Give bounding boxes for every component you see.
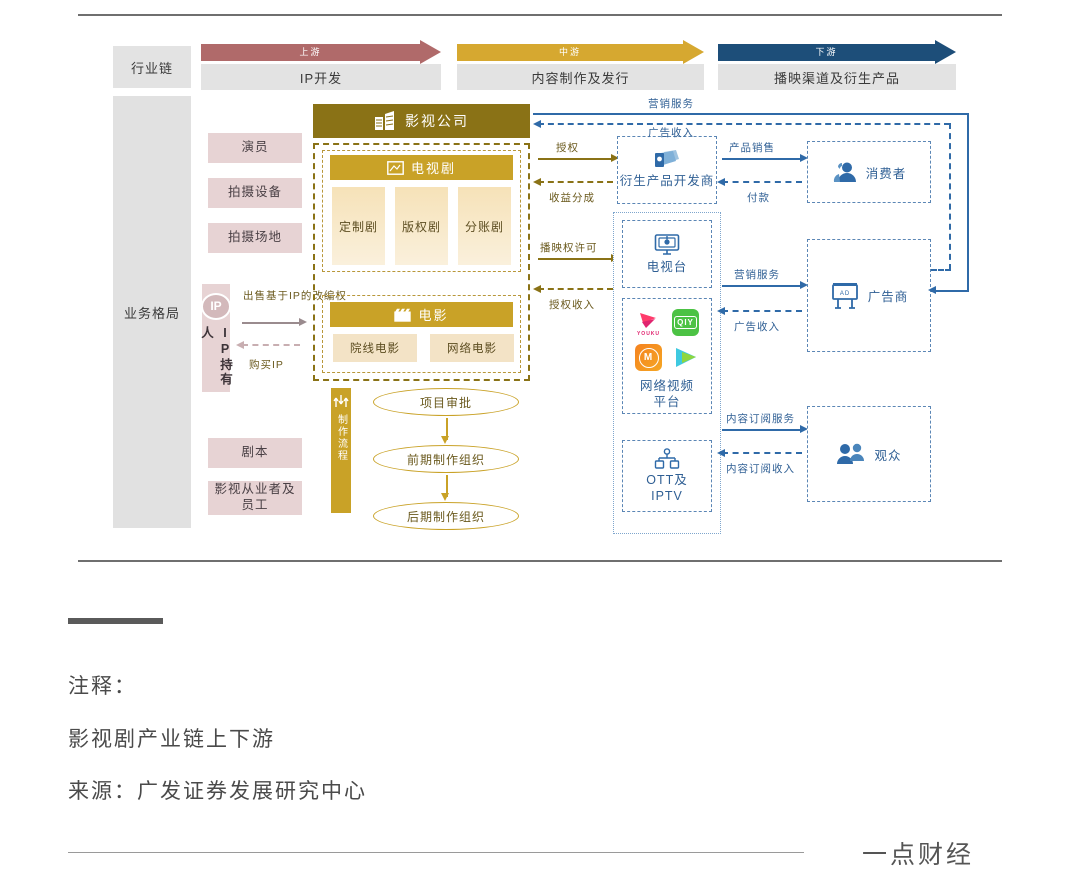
flow-arrowhead-payment xyxy=(717,178,725,186)
advertiser-box: AD 广告商 xyxy=(807,239,931,352)
flow-vline-marketing-top xyxy=(967,113,969,291)
upstream-box-actor: 演员 xyxy=(208,133,302,163)
audience-label: 观众 xyxy=(874,445,901,464)
row-label-chain-text: 行业链 xyxy=(131,58,173,77)
stage-box-upstream: IP开发 xyxy=(201,64,441,90)
upstream-box-equipment: 拍摄设备 xyxy=(208,178,302,208)
stage-arrow-upstream: 上游 xyxy=(201,40,441,64)
stage-box-midstream: 内容制作及发行 xyxy=(457,64,704,90)
process-arrowhead-1 xyxy=(441,436,449,444)
tv-drama-item-copyright: 版权剧 xyxy=(395,187,448,265)
watermark: 一点财经 xyxy=(862,835,974,871)
stage-box-downstream: 播映渠道及衍生产品 xyxy=(718,64,956,90)
tv-drama-item-revshare: 分账剧 xyxy=(458,187,511,265)
production-process-label-text: 制作流程 xyxy=(334,414,349,462)
flow-arrowhead-sell-ip xyxy=(299,318,307,326)
flow-line-payment xyxy=(722,181,802,183)
upstream-box-script-text: 剧本 xyxy=(241,445,268,461)
flow-label-subscription-income: 内容订阅收入 xyxy=(726,461,795,476)
flow-line-ad-income xyxy=(722,310,802,312)
derivative-developer-label: 衍生产品开发商 xyxy=(620,173,715,189)
flow-label-product-sale: 产品销售 xyxy=(729,140,775,155)
row-label-chain: 行业链 xyxy=(113,46,191,88)
flow-arrowhead-ad-income-top xyxy=(533,120,541,128)
production-process-label: 制作流程 xyxy=(331,388,351,513)
flow-label-marketing-top: 营销服务 xyxy=(648,96,694,111)
flow-arrowhead-license-income xyxy=(533,285,541,293)
footer-divider xyxy=(68,852,804,853)
flow-line-subscription-income xyxy=(722,452,802,454)
upstream-box-workers-text: 影视从业者及员工 xyxy=(208,482,302,513)
footer-source: 来源：广发证券发展研究中心 xyxy=(68,775,367,805)
flow-line-buy-ip xyxy=(242,344,300,346)
flow-label-marketing: 营销服务 xyxy=(734,267,780,282)
flow-line-subscription-service xyxy=(722,429,802,431)
row-label-layout: 业务格局 xyxy=(113,96,191,528)
flow-label-license-income: 授权收入 xyxy=(549,297,595,312)
company-header-text: 影视公司 xyxy=(405,111,469,131)
building-icon xyxy=(374,111,396,131)
tv-drama-item-custom: 定制剧 xyxy=(332,187,385,265)
industry-chain-diagram: 行业链 业务格局 上游 IP开发 中游 内容制作及发行 下游 xyxy=(0,0,1080,560)
stage-box-upstream-text: IP开发 xyxy=(300,68,342,87)
tv-drama-header-text: 电视剧 xyxy=(411,158,456,177)
video-platform-label-1: 网络视频 xyxy=(640,378,694,394)
iqiyi-logo-icon: QIY xyxy=(672,309,699,336)
flow-arrowhead-marketing-top xyxy=(928,286,936,294)
process-step-preproduction: 前期制作组织 xyxy=(373,445,519,473)
upstream-box-location-text: 拍摄场地 xyxy=(228,230,282,246)
flow-line-product-sale xyxy=(722,158,802,160)
footer-note-text: 影视剧产业链上下游 xyxy=(68,723,275,753)
svg-text:AD: AD xyxy=(840,291,850,297)
video-platform-label-2: 平台 xyxy=(653,394,680,410)
network-icon xyxy=(654,448,680,470)
ad-board-icon: AD xyxy=(830,282,860,310)
flow-line-ad-income-top xyxy=(538,123,950,125)
flow-arrowhead-revshare xyxy=(533,178,541,186)
flow-arrowhead-buy-ip xyxy=(236,341,244,349)
film-item-online: 网络电影 xyxy=(430,334,514,362)
upstream-box-actor-text: 演员 xyxy=(241,140,268,156)
cards-icon xyxy=(654,150,680,170)
flow-label-license: 授权 xyxy=(556,140,579,155)
process-step-approval: 项目审批 xyxy=(373,388,519,416)
ott-iptv-box: OTT及 IPTV xyxy=(622,440,712,512)
user-icon xyxy=(832,161,858,183)
flow-label-ad-income: 广告收入 xyxy=(734,319,780,334)
flow-line-license xyxy=(538,158,613,160)
upstream-box-location: 拍摄场地 xyxy=(208,223,302,253)
film-clapper-icon xyxy=(394,308,411,322)
flow-line-license-income xyxy=(538,288,613,290)
tv-drama-header: 电视剧 xyxy=(330,155,513,180)
stage-arrow-midstream: 中游 xyxy=(457,40,704,64)
flow-label-payment: 付款 xyxy=(747,190,770,205)
flow-label-broadcast-right: 播映权许可 xyxy=(540,240,598,255)
footer-accent-rule xyxy=(68,618,163,624)
divider-bottom xyxy=(78,560,1002,562)
mango-logo-icon: M xyxy=(635,344,662,371)
flow-line-marketing xyxy=(722,285,802,287)
row-label-layout-text: 业务格局 xyxy=(124,303,180,322)
ott-label-2: IPTV xyxy=(651,488,683,504)
stage-box-midstream-text: 内容制作及发行 xyxy=(531,68,629,87)
advertiser-label: 广告商 xyxy=(868,286,909,305)
upstream-box-script: 剧本 xyxy=(208,438,302,468)
stage-arrow-midstream-label: 中游 xyxy=(457,44,683,61)
consumer-box: 消费者 xyxy=(807,141,931,203)
flow-line-marketing-top xyxy=(533,113,969,115)
users-group-icon xyxy=(836,443,866,465)
footer-note-label: 注释： xyxy=(68,670,137,700)
film-header: 电影 xyxy=(330,302,513,327)
stage-box-downstream-text: 播映渠道及衍生产品 xyxy=(774,68,900,87)
tencent-video-logo-icon xyxy=(672,344,699,371)
stage-arrow-downstream-label: 下游 xyxy=(718,44,935,61)
tv-station-box: 电视台 xyxy=(622,220,712,288)
flow-line-marketing-top-in xyxy=(931,290,969,292)
tv-station-label: 电视台 xyxy=(647,259,688,275)
ott-label-1: OTT及 xyxy=(646,472,688,488)
youku-logo-icon: YOUKU xyxy=(635,309,662,336)
flow-line-revshare xyxy=(538,181,613,183)
derivative-developer-box: 衍生产品开发商 xyxy=(617,136,717,204)
flow-line-broadcast-right xyxy=(538,258,613,260)
tv-screen-icon xyxy=(387,161,404,175)
flow-label-revshare: 收益分成 xyxy=(549,190,595,205)
page-root: 行业链 业务格局 上游 IP开发 中游 内容制作及发行 下游 xyxy=(0,0,1080,896)
film-header-text: 电影 xyxy=(418,305,448,324)
flow-vline-ad-income-top xyxy=(949,123,951,270)
flow-arrowhead-subscription-income xyxy=(717,449,725,457)
ip-holder-label: IP持有人 xyxy=(197,326,235,392)
flow-label-buy-ip: 购买IP xyxy=(249,357,284,372)
film-item-theater: 院线电影 xyxy=(333,334,417,362)
flow-line-sell-ip xyxy=(242,322,300,324)
ip-badge-icon: IP xyxy=(201,293,231,320)
flow-label-subscription-service: 内容订阅服务 xyxy=(726,411,795,426)
company-header: 影视公司 xyxy=(313,104,530,138)
flow-line-ad-income-top-in xyxy=(931,269,951,271)
flow-arrowhead-ad-income xyxy=(717,307,725,315)
monitor-icon xyxy=(654,233,680,256)
video-platform-box: YOUKU QIY M 网络视频 平台 xyxy=(622,298,712,414)
flow-label-ad-income-top: 广告收入 xyxy=(648,125,694,140)
ip-holder-column: IP IP持有人 xyxy=(202,284,230,392)
consumer-label: 消费者 xyxy=(866,163,907,182)
stage-arrow-downstream: 下游 xyxy=(718,40,956,64)
upstream-box-equipment-text: 拍摄设备 xyxy=(228,185,282,201)
audience-box: 观众 xyxy=(807,406,931,502)
process-arrowhead-2 xyxy=(441,493,449,501)
upstream-box-workers: 影视从业者及员工 xyxy=(208,481,302,515)
stage-arrow-upstream-label: 上游 xyxy=(201,44,420,61)
process-step-postproduction: 后期制作组织 xyxy=(373,502,519,530)
up-down-arrows-icon xyxy=(333,394,349,408)
